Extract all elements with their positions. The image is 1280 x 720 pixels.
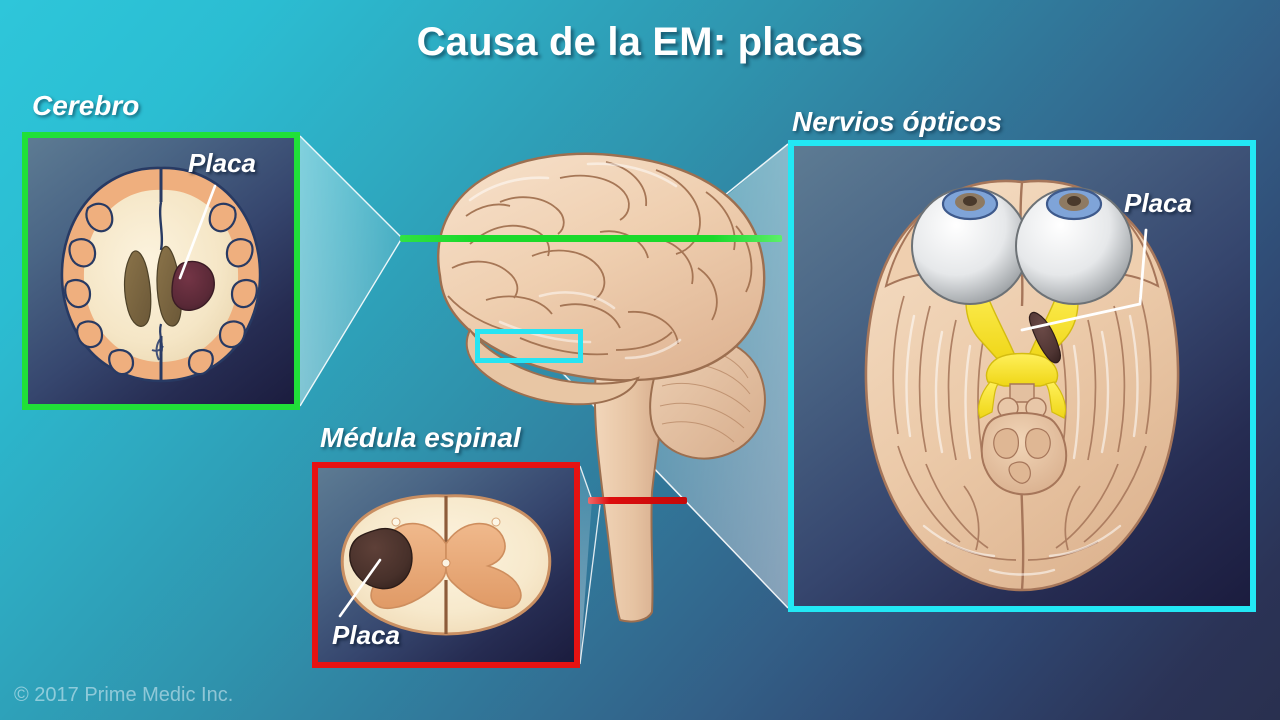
panel-cerebro[interactable]: Placa [22,132,300,410]
panel-label-medula: Médula espinal [320,422,521,454]
callout-label-plaque-brain: Placa [188,148,256,179]
red-cut-line [588,497,687,504]
green-cut-line [400,235,782,242]
cyan-highlight-box [475,329,583,363]
panel-medula-espinal[interactable]: Placa [312,462,580,668]
slide-canvas: Causa de la EM: placas [0,0,1280,720]
copyright-notice: © 2017 Prime Medic Inc. [14,684,233,707]
callout-label-plaque-optic: Placa [1124,188,1192,219]
callout-label-plaque-cord: Placa [332,620,400,651]
panel-nervios-opticos[interactable]: Placa [788,140,1256,612]
panel-label-nervios: Nervios ópticos [792,106,1002,138]
panel-label-cerebro: Cerebro [32,90,139,122]
